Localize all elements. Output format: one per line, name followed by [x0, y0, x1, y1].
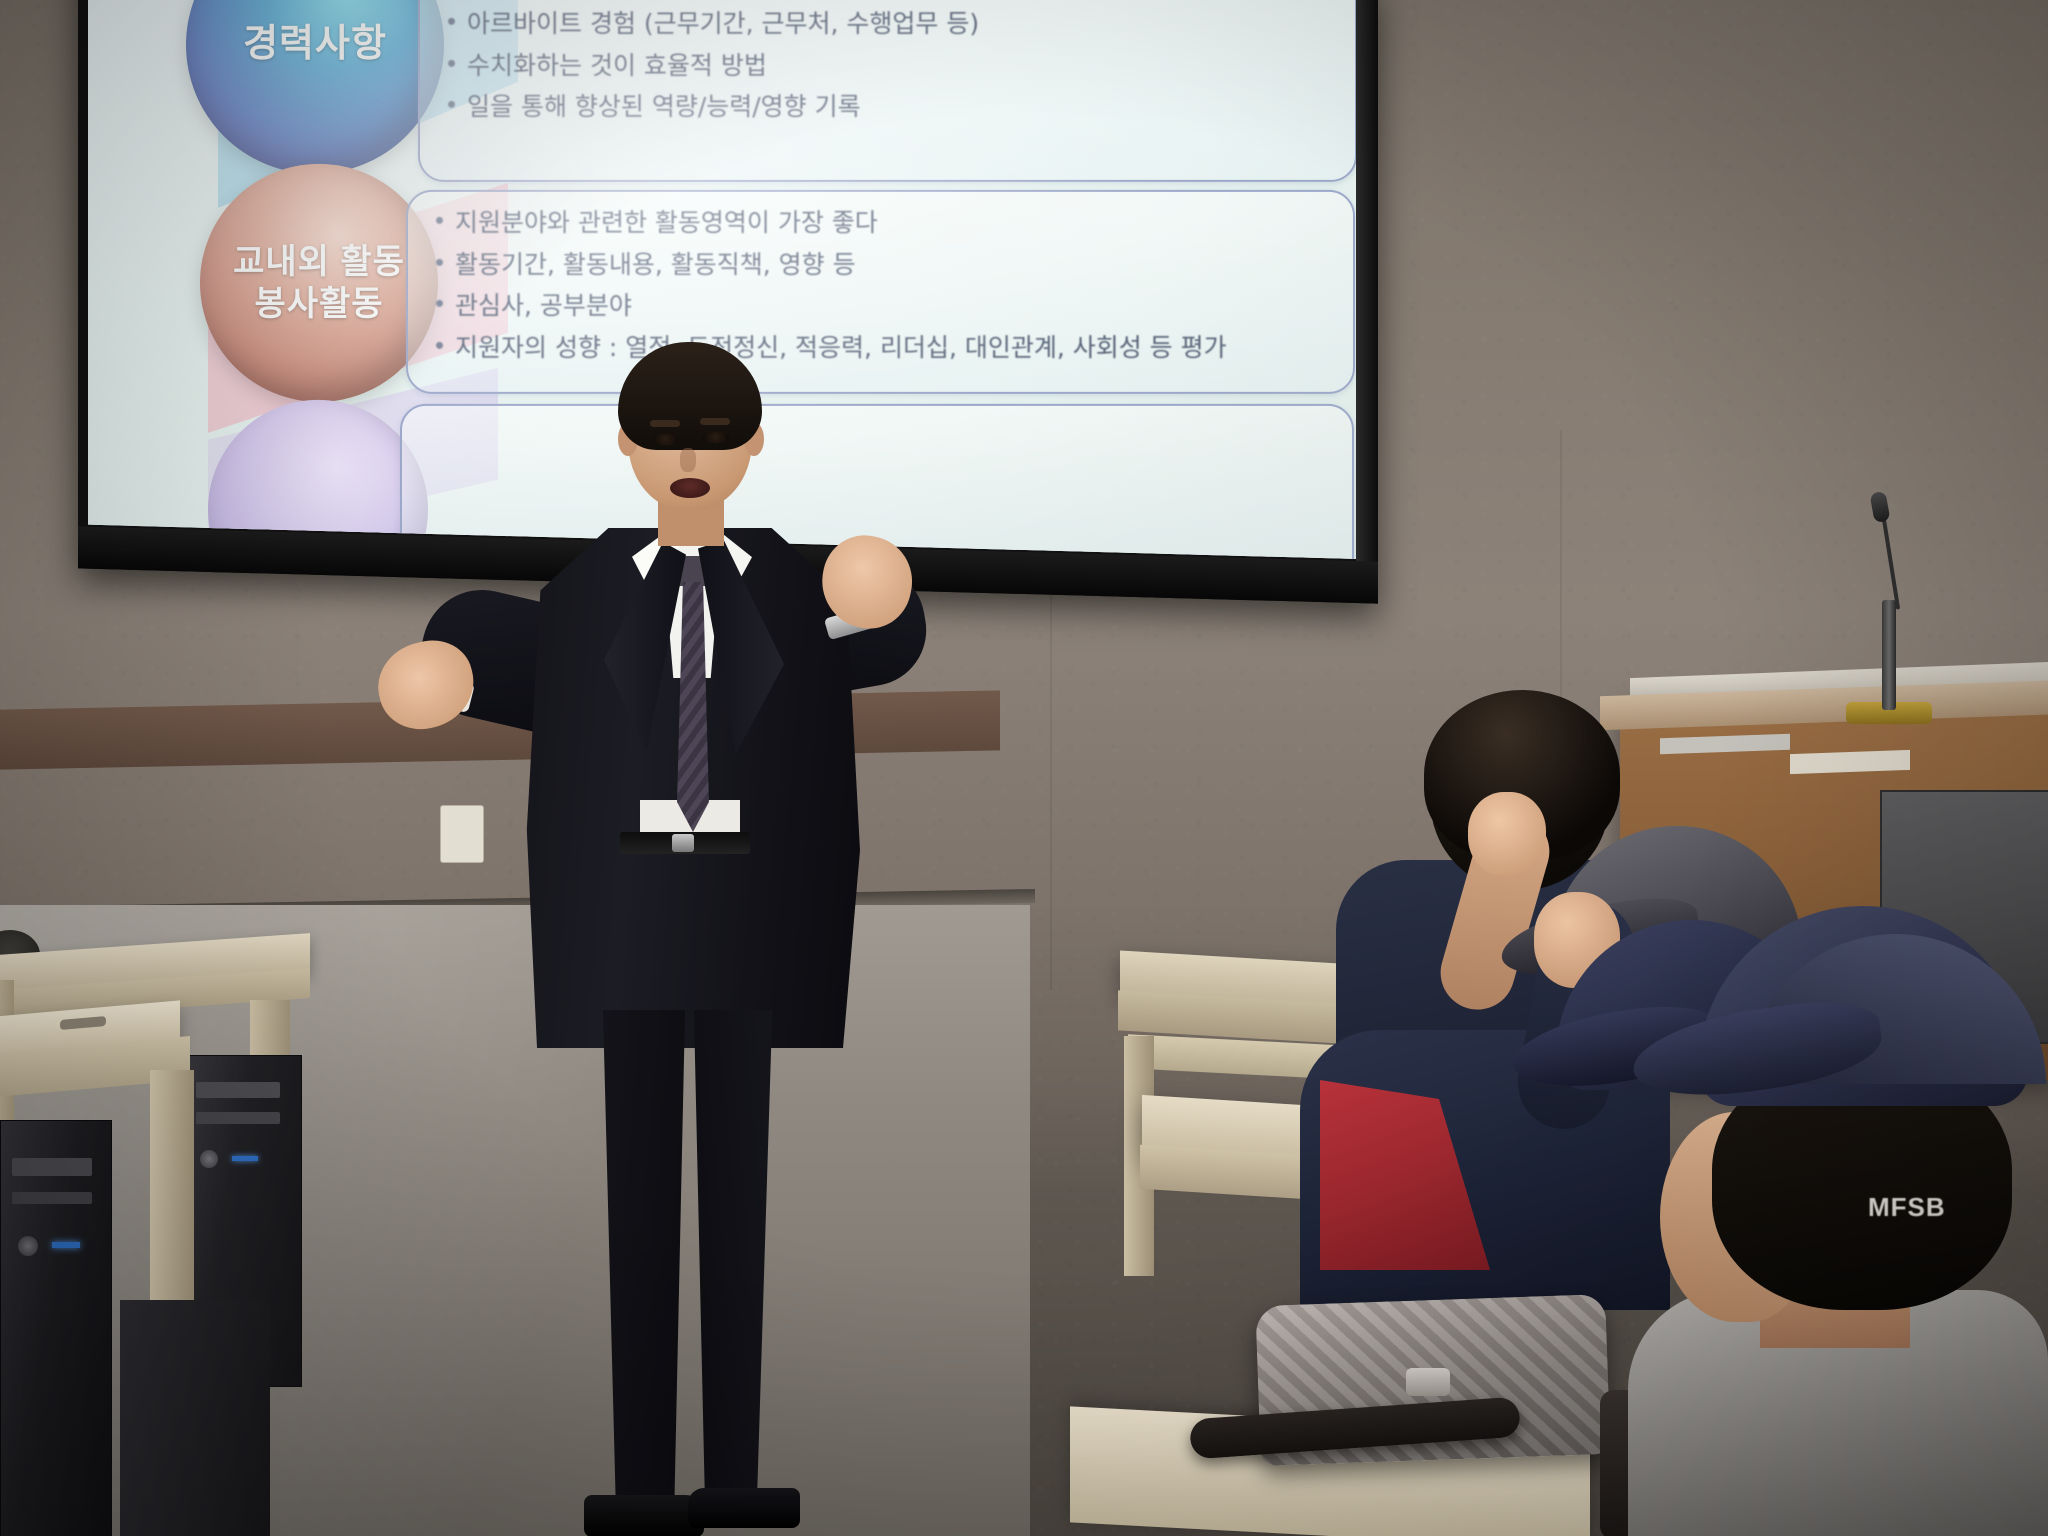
bullet-item: 수치화하는 것이 효율적 방법 [448, 50, 1339, 80]
cap-logo: MFSB [1868, 1192, 1988, 1228]
bullet-item: 활동기간, 활동내용, 활동직책, 영향 등 [436, 249, 1337, 279]
trouser-leg [676, 1010, 788, 1510]
optical-drive-bay [196, 1112, 280, 1124]
bubble-label-line: 교내외 활동 [233, 240, 405, 283]
eye [702, 432, 729, 443]
bullet-text: 관심사, 공부분야 [455, 291, 632, 321]
tower-pc [120, 1300, 270, 1536]
mouth [670, 478, 710, 498]
dress-shoe [584, 1495, 704, 1536]
optical-drive-bay [196, 1082, 280, 1098]
student-navy-shirt-hand [1468, 792, 1546, 876]
bubble-label-line: 경력사항 [243, 21, 387, 69]
power-led-icon [232, 1156, 258, 1161]
bullet-list-career: 자신이 경험한 경력 사항, 소속부서, 담당업무 기재 지원한 업무 분야와 … [448, 0, 1339, 133]
tower-pc [0, 1120, 112, 1536]
photo-scene: 경력사항 자신이 경험한 경력 사항, 소속부서, 담당업무 기재 지원한 업무… [0, 0, 2048, 1536]
bullet-text: 수치화하는 것이 효율적 방법 [467, 50, 767, 80]
bullet-item: 아르바이트 경험 (근무기간, 근무처, 수행업무 등) [448, 9, 1339, 39]
power-led-icon [52, 1242, 80, 1248]
power-button[interactable] [18, 1236, 38, 1256]
presenter [500, 360, 920, 1536]
bullet-text: 지원자의 성향 : 열정, 도전정신, 적응력, 리더십, 대인관계, 사회성 … [455, 332, 1227, 362]
optical-drive-bay [12, 1158, 92, 1176]
bubble-label-line: 봉사활동 [254, 283, 383, 326]
bullet-item: 관심사, 공부분야 [436, 291, 1337, 321]
eye [652, 434, 679, 445]
nose [680, 448, 696, 472]
screen-frame-right-edge [1356, 0, 1378, 604]
bullet-dot-icon [436, 300, 443, 307]
slide-bubble-activities: 교내외 활동 봉사활동 [200, 164, 438, 402]
belt-buckle [672, 834, 694, 852]
bullet-text: 아르바이트 경험 (근무기간, 근무처, 수행업무 등) [467, 9, 979, 39]
power-button[interactable] [200, 1150, 218, 1168]
trouser-leg [590, 1010, 698, 1510]
presenter-legs [584, 1010, 804, 1536]
handbag-tag [1406, 1368, 1450, 1396]
bullet-item: 일을 통해 향상된 역량/능력/영향 기록 [448, 92, 1339, 122]
dress-shoe [688, 1488, 800, 1528]
bullet-text: 일을 통해 향상된 역량/능력/영향 기록 [467, 92, 861, 122]
eyebrow [650, 420, 680, 427]
bullet-text: 활동기간, 활동내용, 활동직책, 영향 등 [455, 249, 856, 279]
bullet-dot-icon [436, 341, 443, 348]
bullet-text: 지원분야와 관련한 활동영역이 가장 좋다 [455, 208, 878, 238]
eyebrow [700, 418, 730, 425]
bullet-item: 지원분야와 관련한 활동영역이 가장 좋다 [436, 208, 1337, 238]
optical-drive-bay [12, 1192, 92, 1204]
slide-panel-career: 자신이 경험한 경력 사항, 소속부서, 담당업무 기재 지원한 업무 분야와 … [418, 0, 1357, 182]
bullet-dot-icon [436, 217, 443, 224]
wall-outlet [440, 805, 484, 863]
paper-on-lectern [1790, 750, 1910, 774]
bullet-dot-icon [448, 59, 455, 66]
bullet-list-activities: 지원분야와 관련한 활동영역이 가장 좋다 활동기간, 활동내용, 활동직책, … [436, 208, 1337, 374]
microphone-stand [1882, 600, 1896, 710]
bullet-dot-icon [448, 18, 455, 25]
bullet-item: 지원자의 성향 : 열정, 도전정신, 적응력, 리더십, 대인관계, 사회성 … [436, 332, 1337, 362]
bullet-dot-icon [448, 101, 455, 108]
bullet-dot-icon [436, 258, 443, 265]
